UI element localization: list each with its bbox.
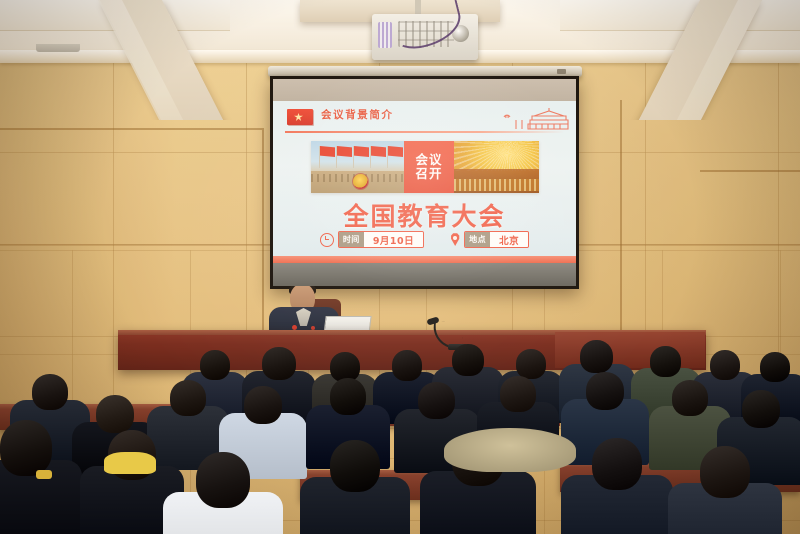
banner-center-block: 会议 召开 (404, 141, 454, 193)
person-head (96, 395, 134, 433)
slide-header: 会议背景简介 (273, 106, 576, 128)
meta-location-label: 地点 (465, 232, 490, 247)
meta-location: 地点 北京 (450, 231, 529, 248)
person-head (710, 350, 740, 380)
flag-row (315, 146, 401, 168)
auditorium-seats (454, 179, 539, 191)
projection-screen-top-fold (273, 79, 576, 101)
person-head (244, 386, 282, 424)
party-flag-icon (287, 109, 313, 125)
person-head (196, 452, 250, 508)
person-head (672, 380, 708, 416)
person-head (0, 420, 52, 476)
person-head (418, 382, 455, 419)
projection-screen-lower-fold (273, 263, 576, 286)
meta-time-value: 9月10日 (364, 232, 423, 247)
slide-header-label: 会议背景简介 (321, 107, 394, 122)
yellow-scarf (104, 452, 156, 474)
person-head (32, 374, 68, 410)
projector-vent-icon (378, 22, 392, 48)
screenshot-root: 会议背景简介 (0, 0, 800, 534)
person-head (586, 372, 624, 410)
slide-banner: 会议 召开 (311, 141, 539, 193)
projector-foot (36, 44, 80, 52)
person-head (200, 350, 230, 380)
banner-center-line2: 召开 (415, 168, 442, 181)
ceiling-recess-right (560, 0, 800, 31)
wall-seam (620, 100, 622, 340)
podium-side-panel (555, 332, 705, 368)
slide-header-divider (285, 131, 564, 133)
meta-location-value: 北京 (490, 232, 528, 247)
tiananmen-gate-icon (496, 107, 572, 131)
person-head (700, 446, 750, 498)
person-head (500, 376, 536, 412)
slide-main-title: 全国教育大会 (273, 197, 576, 233)
person-head (330, 378, 366, 415)
meta-time-label: 时间 (339, 232, 364, 247)
person-head (330, 440, 380, 492)
clock-icon (320, 233, 334, 247)
slide-meta-row: 时间 9月10日 地点 北京 (273, 231, 576, 248)
person-head (170, 380, 206, 416)
person-head (392, 350, 422, 381)
wall-seam (700, 170, 800, 172)
national-emblem-icon (353, 174, 368, 189)
person-head (760, 352, 790, 382)
meta-time-box: 时间 9月10日 (338, 231, 424, 248)
person-head (452, 344, 484, 376)
person-head (580, 340, 613, 373)
banner-center-line1: 会议 (415, 154, 442, 167)
hair-clip (36, 470, 52, 479)
person-head (516, 349, 546, 379)
meta-time: 时间 9月10日 (320, 231, 424, 248)
slide-footer-band (273, 256, 576, 263)
banner-left-flags-image (311, 141, 404, 193)
presentation-slide[interactable]: 会议背景简介 (273, 101, 576, 263)
location-pin-icon (450, 233, 460, 246)
person-head (262, 347, 296, 380)
wall-seam (0, 128, 262, 130)
banner-right-auditorium-image (454, 141, 539, 193)
fur-hood-trim (444, 428, 576, 472)
person-head (650, 346, 681, 377)
wall-seam (262, 128, 264, 338)
person-head (742, 390, 780, 428)
person-head (592, 438, 642, 490)
meta-location-box: 地点 北京 (464, 231, 529, 248)
